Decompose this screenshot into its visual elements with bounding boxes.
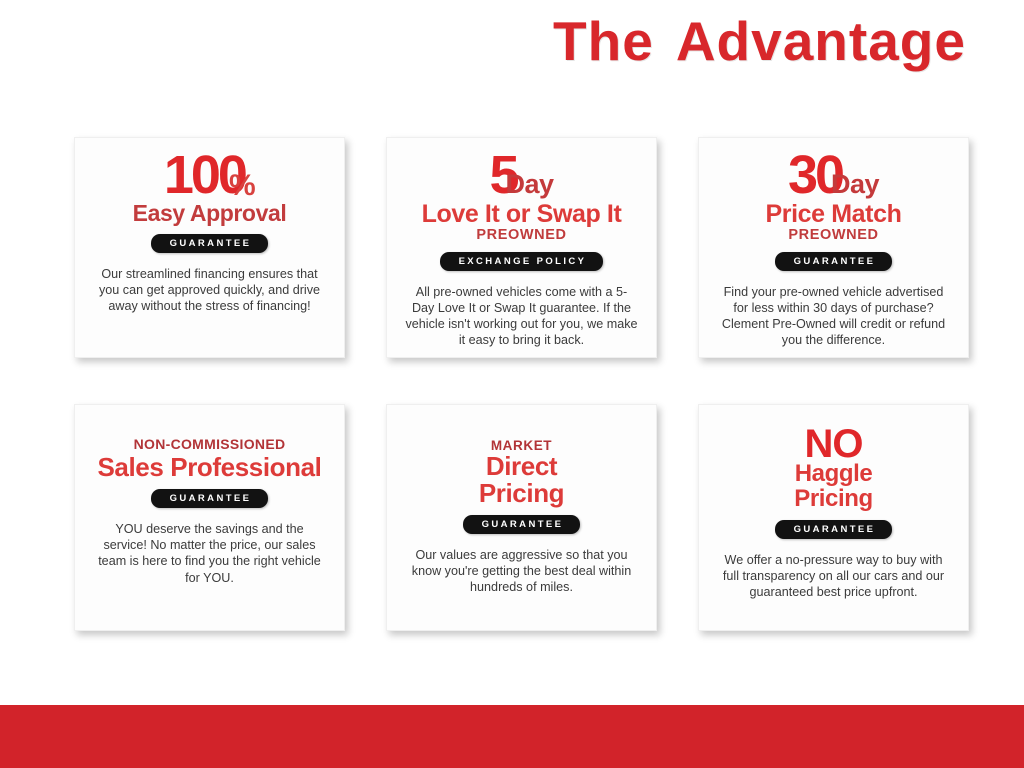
advantage-card-market-direct-pricing[interactable]: MARKET Direct Pricing GUARANTEE Our valu… (386, 404, 657, 631)
hero-suffix: Day (506, 173, 554, 197)
hero-line: 30Day (711, 152, 956, 200)
card-description: Our values are aggressive so that you kn… (399, 547, 644, 595)
card-title: Price Match (711, 202, 956, 228)
guarantee-badge: GUARANTEE (775, 252, 893, 271)
page-title-part2: Advantage (676, 10, 966, 72)
advantage-card-easy-approval[interactable]: 100% Easy Approval GUARANTEE Our streaml… (74, 137, 345, 358)
card-title: Sales Professional (87, 454, 332, 481)
hero-suffix: % (229, 173, 255, 199)
hero-line: NO (711, 427, 956, 462)
advantage-card-grid: 100% Easy Approval GUARANTEE Our streaml… (74, 137, 970, 631)
card-preowned-label: PREOWNED (399, 228, 644, 243)
card-description: Our streamlined financing ensures that y… (87, 266, 332, 314)
card-headline-block: 5Day Love It or Swap It PREOWNED (399, 152, 644, 243)
hero-line: 5Day (399, 152, 644, 200)
card-title: Easy Approval (87, 202, 332, 225)
card-title: Direct Pricing (462, 453, 582, 506)
guarantee-badge: GUARANTEE (775, 520, 893, 539)
card-description: All pre-owned vehicles come with a 5-Day… (399, 284, 644, 348)
guarantee-badge: GUARANTEE (463, 515, 581, 534)
card-title: Haggle Pricing (779, 462, 889, 511)
card-headline-block: MARKET Direct Pricing (399, 439, 644, 506)
card-description: YOU deserve the savings and the service!… (87, 521, 332, 585)
hero-line: 100% (87, 152, 332, 200)
card-headline-block: NON-COMMISSIONED Sales Professional (87, 437, 332, 480)
page-header: TheAdvantage (0, 0, 1024, 105)
advantage-card-love-it-or-swap-it[interactable]: 5Day Love It or Swap It PREOWNED EXCHANG… (386, 137, 657, 358)
card-title: Love It or Swap It (399, 202, 644, 228)
card-preowned-label: PREOWNED (711, 228, 956, 243)
page-title: TheAdvantage (553, 14, 966, 69)
page-title-part1: The (553, 10, 654, 72)
exchange-policy-badge: EXCHANGE POLICY (440, 252, 604, 271)
card-headline-block: NO Haggle Pricing (711, 427, 956, 511)
card-description: We offer a no-pressure way to buy with f… (711, 552, 956, 600)
card-headline-block: 100% Easy Approval (87, 152, 332, 225)
card-eyebrow: NON-COMMISSIONED (87, 437, 332, 452)
card-headline-block: 30Day Price Match PREOWNED (711, 152, 956, 243)
hero-number: NO (805, 427, 863, 462)
bottom-accent-bar (0, 705, 1024, 768)
advantage-card-no-haggle-pricing[interactable]: NO Haggle Pricing GUARANTEE We offer a n… (698, 404, 969, 631)
hero-suffix: Day (831, 173, 879, 197)
advantage-card-sales-professional[interactable]: NON-COMMISSIONED Sales Professional GUAR… (74, 404, 345, 631)
guarantee-badge: GUARANTEE (151, 234, 269, 253)
card-description: Find your pre-owned vehicle advertised f… (711, 284, 956, 348)
guarantee-badge: GUARANTEE (151, 489, 269, 508)
advantage-card-price-match[interactable]: 30Day Price Match PREOWNED GUARANTEE Fin… (698, 137, 969, 358)
